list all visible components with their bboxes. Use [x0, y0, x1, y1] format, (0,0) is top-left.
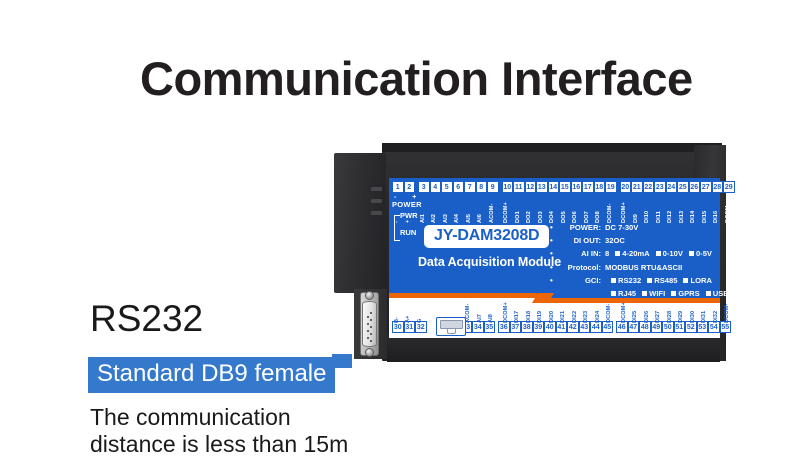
spec-option: USB: [713, 289, 729, 298]
signal-label-29: DCOM-: [725, 204, 731, 223]
communication-distance-text: The communication distance is less than …: [90, 404, 348, 458]
db9-pin: [367, 316, 369, 318]
device-model-plate: JY-DAM3208D: [424, 225, 549, 248]
spec-option: LORA: [690, 276, 712, 285]
checkbox-icon: [611, 278, 616, 283]
signal-label-50: DI28: [667, 311, 673, 323]
spec-key: GCI:: [557, 277, 601, 285]
terminal-12: 12: [525, 181, 537, 193]
signal-label-45: DCOM-: [606, 304, 612, 323]
device-spec-list: •POWER:DC 7-30V•DI OUT:32OC•AI IN:84-20m…: [550, 224, 729, 303]
vent-slot-icon: [371, 199, 382, 203]
spec-line: RJ45WIFIGPRSUSB: [605, 290, 729, 298]
signal-label-25: DI13: [679, 211, 685, 223]
db9-screw-icon: [365, 348, 374, 357]
db9-pin: [370, 333, 372, 335]
status-badge: Standard DB9 female: [88, 357, 335, 393]
terminal-21: 21: [631, 181, 643, 193]
terminal-13: 13: [536, 181, 548, 193]
device-subtitle: Data Acquisition Module: [418, 255, 561, 269]
signal-label-23: DI11: [656, 211, 662, 223]
led-run-label: RUN: [400, 228, 416, 237]
db9-screw-icon: [365, 291, 374, 300]
checkbox-icon: [647, 278, 652, 283]
checkbox-icon: [615, 251, 620, 256]
stripe-segment-left: [389, 293, 537, 298]
spec-value: RJ45WIFIGPRSUSB: [605, 290, 729, 298]
spec-line: •DI OUT:32OC: [550, 237, 729, 245]
terminal-10: 10: [502, 181, 514, 193]
signal-label-5: AI3: [443, 214, 449, 223]
signal-label-7: AI5: [466, 214, 472, 223]
signal-label-11: DO1: [515, 211, 521, 223]
signal-label-27: DI15: [702, 211, 708, 223]
spec-option: 0-5V: [696, 249, 712, 258]
terminal-17: 17: [582, 181, 594, 193]
db9-pin: [367, 337, 369, 339]
vent-slot-icon: [371, 211, 382, 215]
signal-label-6: AI4: [454, 214, 460, 223]
bullet-icon: •: [550, 224, 557, 232]
signal-label-18: DO8: [595, 211, 601, 223]
signal-label-46: DCOM+: [621, 302, 627, 323]
terminal-3: 3: [418, 181, 430, 193]
db9-pin: [370, 326, 372, 328]
rj45-tab: [447, 329, 456, 334]
spec-key: DI OUT:: [557, 237, 601, 245]
terminal-2: 2: [404, 181, 416, 193]
signal-label-48: DI26: [644, 311, 650, 323]
signal-label-14: DO4: [549, 211, 555, 223]
interface-name-label: RS232: [90, 300, 203, 337]
terminal-14: 14: [548, 181, 560, 193]
signal-label-4: AI2: [431, 214, 437, 223]
bullet-icon: •: [550, 250, 557, 258]
spec-value: RS232RS485LORA: [605, 277, 712, 285]
bullet-icon: •: [550, 277, 557, 285]
signal-label-34: AI7: [477, 314, 483, 323]
signal-label-54: DI32: [713, 311, 719, 323]
signal-label-24: DI12: [667, 211, 673, 223]
spec-option: 0-10V: [663, 249, 683, 258]
terminal-4: 4: [430, 181, 442, 193]
rj45-port-icon: [436, 317, 466, 336]
terminal-7: 7: [464, 181, 476, 193]
spec-option: WIFI: [649, 289, 665, 298]
terminal-29: 29: [723, 181, 735, 193]
terminal-26: 26: [689, 181, 701, 193]
top-terminal-row: 1234567891011121314151617181920212223242…: [392, 181, 735, 193]
signal-label-17: DO7: [584, 211, 590, 223]
signal-label-38: DI18: [526, 311, 532, 323]
signal-label-1: -: [394, 221, 400, 223]
terminal-11: 11: [513, 181, 525, 193]
spec-value: MODBUS RTU&ASCII: [605, 264, 682, 272]
signal-label-41: DI21: [560, 311, 566, 323]
db9-pin: [370, 340, 372, 342]
spec-line: •Protocol:MODBUS RTU&ASCII: [550, 264, 729, 272]
device-photo: - + POWER PWR RUN 1234567891011121314151…: [332, 143, 780, 368]
signal-label-37: DI17: [514, 311, 520, 323]
terminal-23: 23: [654, 181, 666, 193]
spec-line: •GCI:RS232RS485LORA: [550, 277, 729, 285]
spec-option: 4-20mA: [622, 249, 649, 258]
spec-line: •POWER:DC 7-30V: [550, 224, 729, 232]
signal-label-33: ACOM-: [465, 304, 471, 323]
checkbox-icon: [689, 251, 694, 256]
bullet-icon: •: [550, 237, 557, 245]
spec-option: GPRS: [678, 289, 700, 298]
terminal-28: 28: [712, 181, 724, 193]
signal-label-10: DCOM+: [503, 202, 509, 223]
db9-pin: [370, 319, 372, 321]
signal-label-30: B-: [394, 317, 400, 323]
spec-value: DC 7-30V: [605, 224, 638, 232]
signal-label-49: DI27: [655, 311, 661, 323]
signal-label-36: DCOM+: [503, 302, 509, 323]
spec-key: POWER:: [557, 224, 601, 232]
led-bracket-icon: [394, 215, 399, 241]
signal-label-21: DI9: [633, 214, 639, 223]
signal-label-52: DI30: [690, 311, 696, 323]
device-case-bottom-edge: [387, 335, 720, 362]
signal-label-15: DO5: [561, 211, 567, 223]
signal-label-2: +: [405, 220, 411, 223]
db9-connector-icon: [352, 289, 388, 359]
signal-label-55: DCOM-: [724, 304, 730, 323]
signal-label-12: DO2: [526, 211, 532, 223]
terminal-18: 18: [594, 181, 606, 193]
spec-value: 84-20mA0-10V0-5V: [605, 250, 712, 258]
device-case-left-edge: [334, 153, 386, 293]
signal-label-9: ACOM-: [489, 204, 495, 223]
spec-line: •AI IN:84-20mA0-10V0-5V: [550, 250, 729, 258]
signal-label-47: DI25: [632, 311, 638, 323]
checkbox-icon: [656, 251, 661, 256]
signal-label-19: DCOM-: [607, 204, 613, 223]
db9-pin: [370, 312, 372, 314]
spec-key: AI IN:: [557, 250, 601, 258]
spec-option: RS232: [618, 276, 641, 285]
spec-value: 32OC: [605, 237, 625, 245]
rj45-body: [440, 320, 463, 329]
checkbox-icon: [683, 278, 688, 283]
checkbox-icon: [611, 291, 616, 296]
signal-label-3: AI1: [420, 214, 426, 223]
vent-slot-icon: [371, 187, 382, 191]
signal-label-44: DI24: [595, 311, 601, 323]
terminal-19: 19: [605, 181, 617, 193]
terminal-16: 16: [571, 181, 583, 193]
terminal-15: 15: [559, 181, 571, 193]
signal-label-31: A+: [405, 315, 411, 323]
terminal-8: 8: [476, 181, 488, 193]
terminal-6: 6: [453, 181, 465, 193]
signal-label-35: AI8: [488, 314, 494, 323]
signal-label-22: DI10: [644, 211, 650, 223]
signal-label-40: DI20: [549, 311, 555, 323]
signal-label-16: DO6: [572, 211, 578, 223]
db9-pin: [367, 330, 369, 332]
db9-shell: [362, 301, 377, 347]
spec-key: Protocol:: [557, 264, 601, 272]
signal-label-26: DI14: [690, 211, 696, 223]
terminal-27: 27: [700, 181, 712, 193]
terminal-1: 1: [392, 181, 404, 193]
checkbox-icon: [671, 291, 676, 296]
db9-pin: [367, 323, 369, 325]
checkbox-icon: [642, 291, 647, 296]
terminal-25: 25: [677, 181, 689, 193]
signal-label-8: AI6: [477, 214, 483, 223]
signal-label-51: DI29: [678, 311, 684, 323]
terminal-22: 22: [643, 181, 655, 193]
signal-label-42: DI22: [572, 311, 578, 323]
terminal-20: 20: [620, 181, 632, 193]
terminal-24: 24: [666, 181, 678, 193]
page-title: Communication Interface: [140, 53, 693, 105]
signal-label-28: DI16: [713, 211, 719, 223]
power-label: POWER: [392, 200, 422, 209]
checkbox-icon: [706, 291, 711, 296]
signal-label-32: G: [417, 319, 423, 323]
terminal-9: 9: [487, 181, 499, 193]
bullet-icon: •: [550, 264, 557, 272]
signal-label-53: DI31: [701, 311, 707, 323]
signal-label-20: DCOM+: [621, 202, 627, 223]
terminal-5: 5: [441, 181, 453, 193]
spec-option: RJ45: [618, 289, 636, 298]
signal-label-39: DI19: [537, 311, 543, 323]
signal-label-43: DI23: [583, 311, 589, 323]
spec-option: RS485: [654, 276, 677, 285]
signal-label-13: DO3: [538, 211, 544, 223]
corner-accent-flag: [332, 354, 352, 368]
